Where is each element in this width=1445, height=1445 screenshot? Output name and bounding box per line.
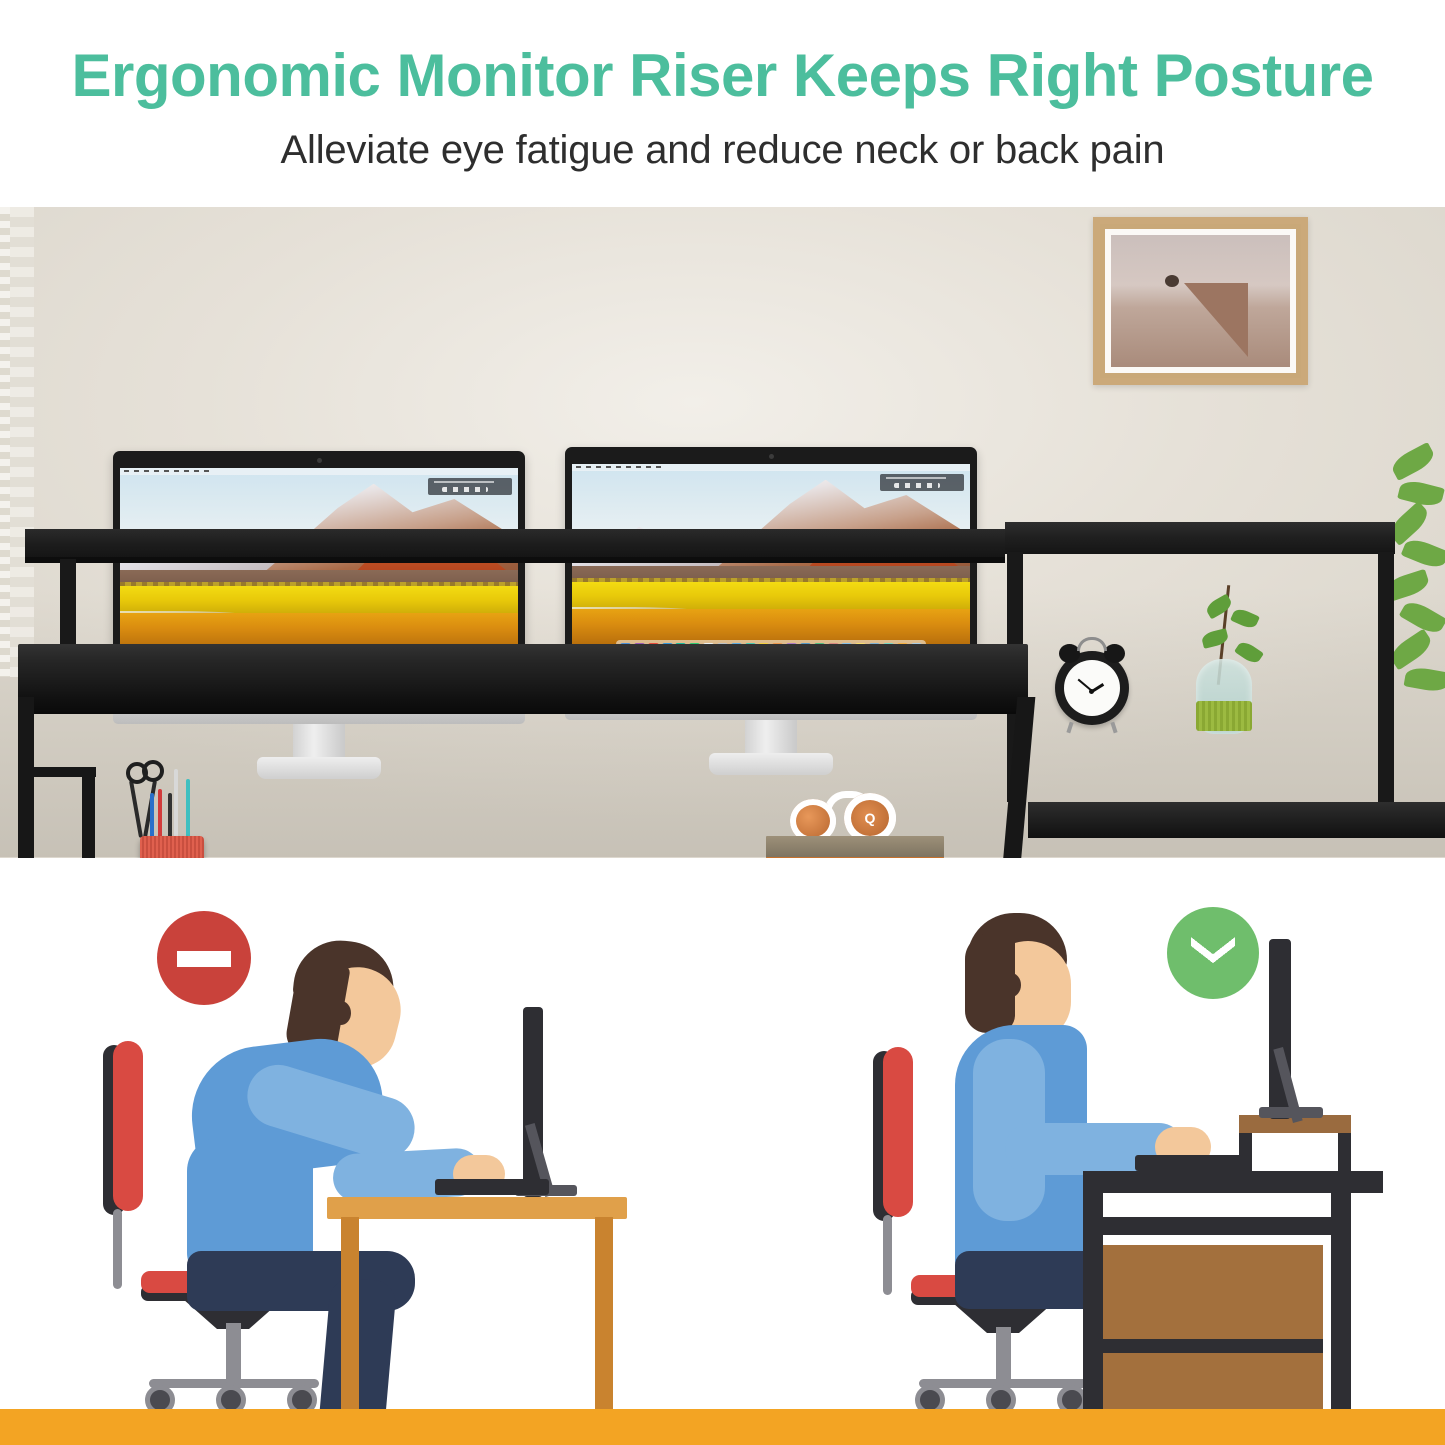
riser-shelf-edge (25, 557, 1005, 563)
desk-right-post (1331, 1171, 1351, 1445)
hair-side (965, 933, 1015, 1033)
monitor-screen (120, 468, 518, 664)
monitor-base-raised (1259, 1107, 1323, 1118)
clock-bell-right (1104, 644, 1125, 663)
clock-face (1064, 660, 1120, 716)
page-title: Ergonomic Monitor Riser Keeps Right Post… (0, 44, 1445, 107)
pen-holder (140, 836, 204, 858)
product-photo: THRIFT EPSON EPSON (0, 207, 1445, 858)
pen-teal (186, 779, 190, 841)
monitor-foot (709, 753, 833, 775)
desk-surface (18, 644, 1028, 700)
riser-leg-right (1378, 552, 1394, 802)
posture-comparison-illustration (0, 858, 1445, 1445)
curtain (0, 207, 34, 677)
vase-rope-wrap (1196, 701, 1252, 731)
book-top (766, 836, 944, 858)
webcam-icon (769, 454, 774, 459)
desktop-widget (428, 478, 512, 495)
desk-leg-left (18, 697, 34, 858)
scene-bad-posture (95, 879, 735, 1409)
wallpaper-high-sierra (120, 468, 518, 664)
book-stack: THRIFT (766, 836, 944, 858)
keyboard-ill-low (435, 1179, 549, 1195)
art-image (1111, 235, 1290, 367)
drawer-upper[interactable] (1103, 1245, 1323, 1339)
desk-crossbar (18, 767, 96, 777)
wall-art-frame (1093, 217, 1308, 385)
menu-bar (120, 468, 518, 475)
keyboard-ill-raised (1135, 1155, 1245, 1171)
desk-shelf-bar (1083, 1217, 1351, 1235)
monitor-foot (257, 757, 381, 779)
desk-edge (18, 696, 1028, 714)
page-subtitle: Alleviate eye fatigue and reduce neck or… (0, 128, 1445, 172)
check-mark-icon (1167, 907, 1259, 999)
plain-desk-top (327, 1197, 627, 1219)
drawer-divider (1103, 1339, 1323, 1353)
desk-leg-left2 (82, 767, 95, 858)
alarm-clock (1055, 651, 1129, 725)
menu-bar (572, 464, 970, 471)
no-entry-icon (157, 911, 251, 1005)
floor-bar (0, 1409, 1445, 1445)
webcam-icon (317, 458, 322, 463)
desk-left-post (1083, 1171, 1103, 1445)
monitor-riser-leg-right (1338, 1133, 1351, 1173)
product-infographic-page: Ergonomic Monitor Riser Keeps Right Post… (0, 0, 1445, 1445)
right-plant (1365, 447, 1445, 717)
riser-shelf-right (1005, 522, 1395, 554)
desktop-widget (880, 474, 964, 491)
desk-surface-right (1028, 802, 1445, 838)
riser-leg-left (60, 559, 76, 647)
pen-clear (174, 769, 178, 841)
header-section: Ergonomic Monitor Riser Keeps Right Post… (0, 0, 1445, 207)
scene-good-posture (855, 879, 1435, 1409)
